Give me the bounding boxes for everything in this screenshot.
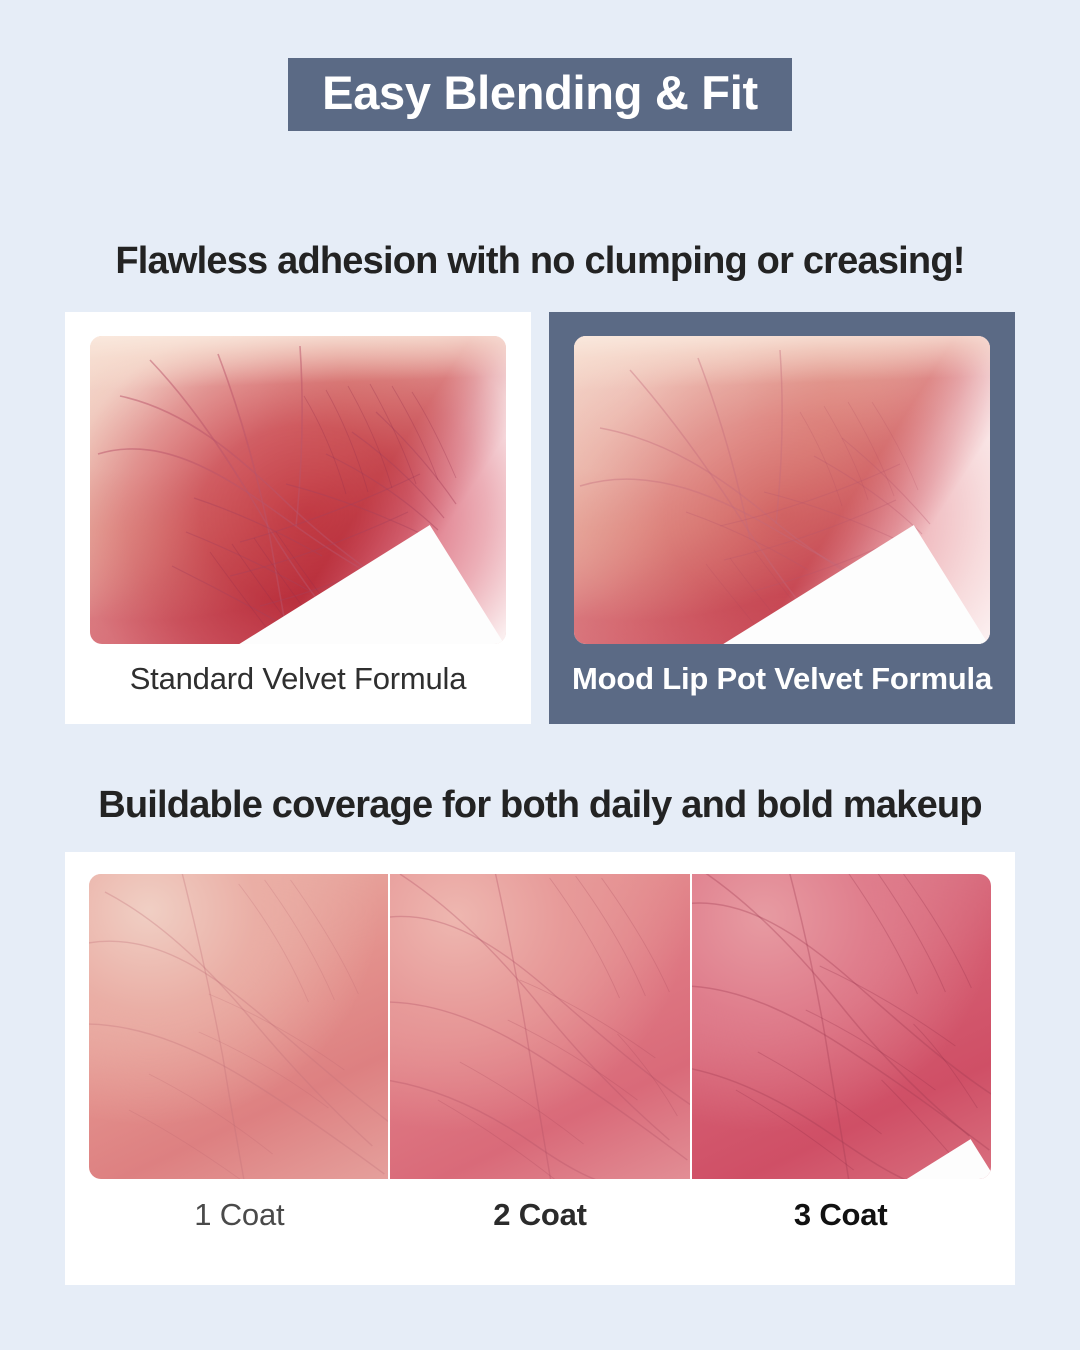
section-heading-adhesion: Flawless adhesion with no clumping or cr… [0, 240, 1080, 283]
coat-label-2: 2 Coat [390, 1197, 691, 1233]
panel-caption-mood-lip-pot: Mood Lip Pot Velvet Formula [572, 661, 992, 697]
skin-crease-lines [89, 874, 388, 1179]
swatch-photo-mood-lip-pot [574, 336, 990, 644]
coat-label-1: 1 Coat [89, 1197, 390, 1233]
panel-caption-standard: Standard Velvet Formula [130, 661, 467, 697]
coat-swatch-1 [89, 874, 390, 1179]
page-title-banner: Easy Blending & Fit [288, 58, 792, 131]
swatch-photo-standard [90, 336, 506, 644]
coat-label-row: 1 Coat 2 Coat 3 Coat [89, 1197, 991, 1233]
skin-crease-lines [390, 874, 689, 1179]
coat-swatch-3 [692, 874, 991, 1179]
coat-label-3: 3 Coat [690, 1197, 991, 1233]
title-banner-container: Easy Blending & Fit [0, 58, 1080, 131]
comparison-panel-standard: Standard Velvet Formula [65, 312, 531, 724]
buildable-coverage-panel: 1 Coat 2 Coat 3 Coat [65, 852, 1015, 1285]
skin-crease-lines [692, 874, 991, 1179]
coat-swatch-2 [390, 874, 691, 1179]
section-heading-buildable: Buildable coverage for both daily and bo… [0, 784, 1080, 827]
coat-swatch-strip [89, 874, 991, 1179]
comparison-panel-mood-lip-pot: Mood Lip Pot Velvet Formula [549, 312, 1015, 724]
formula-comparison-row: Standard Velvet Formula [65, 312, 1015, 724]
